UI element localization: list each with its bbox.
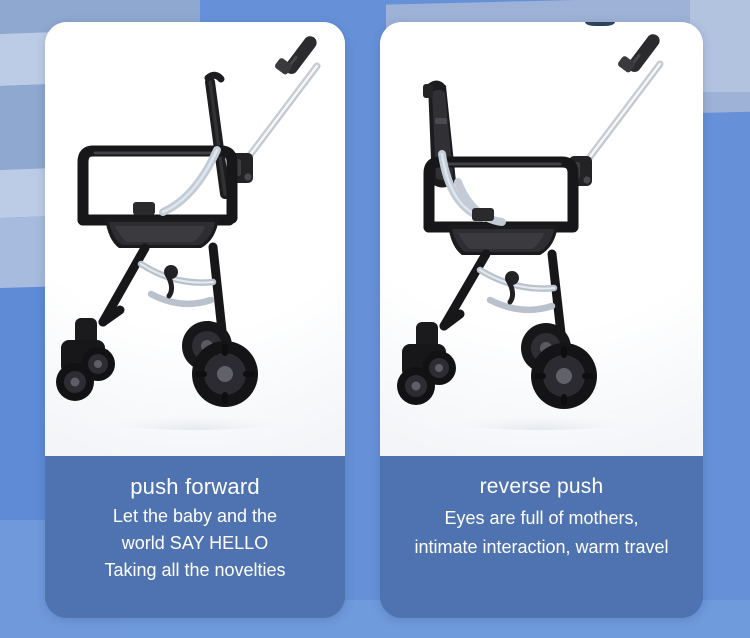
product-photo-push-forward bbox=[45, 22, 345, 456]
card-description-line-1: Let the baby and the bbox=[45, 502, 345, 529]
product-feature-banner: push forward Let the baby and the world … bbox=[0, 0, 750, 638]
card-description-line-2: world SAY HELLO bbox=[45, 529, 345, 556]
card-description-line-1: Eyes are full of mothers, bbox=[380, 502, 703, 531]
card-caption-reverse-push: reverse push Eyes are full of mothers, i… bbox=[380, 456, 703, 618]
stroller-illustration-forward bbox=[45, 22, 345, 456]
card-caption-push-forward: push forward Let the baby and the world … bbox=[45, 456, 345, 618]
card-description-line-3: Taking all the novelties bbox=[45, 556, 345, 583]
card-description-line-2: intimate interaction, warm travel bbox=[380, 531, 703, 560]
feature-card-list: push forward Let the baby and the world … bbox=[0, 0, 750, 638]
card-title: reverse push bbox=[380, 472, 703, 502]
feature-card-push-forward[interactable]: push forward Let the baby and the world … bbox=[45, 22, 345, 618]
feature-card-reverse-push[interactable]: reverse push Eyes are full of mothers, i… bbox=[380, 22, 703, 618]
stroller-illustration-reverse bbox=[380, 22, 703, 456]
card-title: push forward bbox=[45, 472, 345, 502]
product-photo-reverse-push bbox=[380, 22, 703, 456]
